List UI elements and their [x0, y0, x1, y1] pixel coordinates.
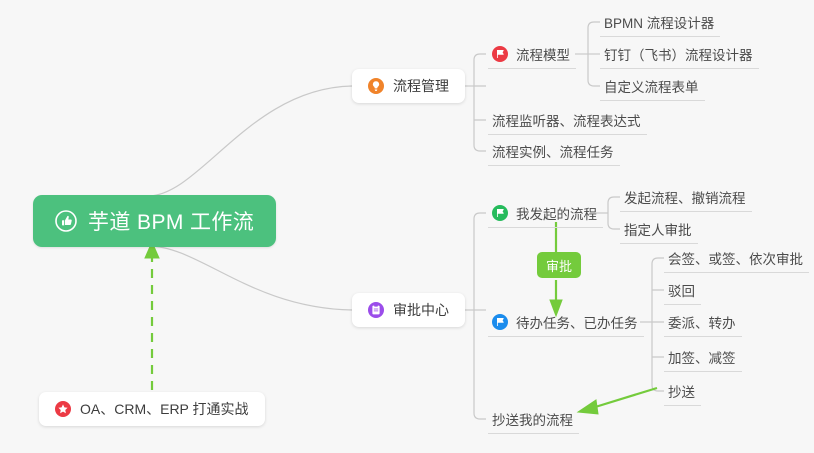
approve-tag-label: 审批	[546, 256, 572, 275]
leaf-reject-label: 驳回	[668, 280, 695, 300]
branch-approval-center[interactable]: 审批中心	[352, 293, 465, 327]
thumbs-up-icon	[55, 210, 77, 232]
connector-todo-mid	[652, 290, 664, 357]
branch-approval-center-label: 审批中心	[393, 300, 449, 320]
connector-initiated-spine	[608, 197, 620, 229]
clipboard-icon	[368, 302, 384, 318]
integration-dashed-arrow	[145, 242, 159, 390]
leaf-cc-label: 抄送	[668, 381, 695, 401]
connector-model-spine	[588, 22, 600, 86]
lightbulb-icon	[368, 78, 384, 94]
connector-todo-spine	[652, 258, 664, 391]
node-process-listener-label: 流程监听器、流程表达式	[492, 110, 641, 130]
leaf-custom-form[interactable]: 自定义流程表单	[600, 71, 705, 101]
node-my-initiated-label: 我发起的流程	[516, 203, 597, 223]
leaf-countersign[interactable]: 会签、或签、依次审批	[664, 243, 809, 273]
node-process-instance[interactable]: 流程实例、流程任务	[488, 136, 620, 166]
mindmap-canvas: 芋道 BPM 工作流 流程管理 流程模型 BPMN 流程设计器 钉钉（飞书）流程…	[0, 0, 814, 453]
flag-icon	[492, 314, 508, 330]
approve-tag: 审批	[537, 252, 581, 278]
node-cc-to-me-label: 抄送我的流程	[492, 409, 573, 429]
connector-process-mid	[474, 86, 486, 120]
root-label: 芋道 BPM 工作流	[88, 206, 254, 236]
footer-node-integration-label: OA、CRM、ERP 打通实战	[80, 399, 249, 419]
leaf-start-cancel-process-label: 发起流程、撤销流程	[624, 187, 746, 207]
node-process-instance-label: 流程实例、流程任务	[492, 141, 614, 161]
leaf-start-cancel-process[interactable]: 发起流程、撤销流程	[620, 182, 752, 212]
flag-icon	[492, 205, 508, 221]
branch-process-management[interactable]: 流程管理	[352, 69, 465, 103]
leaf-assignee-approval[interactable]: 指定人审批	[620, 214, 698, 244]
node-todo-done-tasks-label: 待办任务、已办任务	[516, 312, 638, 332]
leaf-bpmn-designer[interactable]: BPMN 流程设计器	[600, 7, 720, 37]
leaf-countersign-label: 会签、或签、依次审批	[668, 248, 803, 268]
root-node[interactable]: 芋道 BPM 工作流	[33, 195, 276, 247]
node-process-listener[interactable]: 流程监听器、流程表达式	[488, 105, 647, 135]
flag-icon	[492, 46, 508, 62]
connector-root-to-process	[148, 86, 352, 196]
leaf-delegate-transfer-label: 委派、转办	[668, 312, 736, 332]
leaf-reject[interactable]: 驳回	[664, 275, 701, 305]
star-icon	[55, 401, 71, 417]
node-todo-done-tasks[interactable]: 待办任务、已办任务	[488, 307, 644, 337]
node-process-model[interactable]: 流程模型	[488, 39, 576, 69]
node-cc-to-me[interactable]: 抄送我的流程	[488, 404, 579, 434]
connector-process-spine	[474, 54, 486, 151]
cc-flow-arrow	[578, 388, 657, 414]
leaf-add-remove-sign-label: 加签、减签	[668, 347, 736, 367]
connector-approval-spine	[474, 213, 486, 419]
leaf-assignee-approval-label: 指定人审批	[624, 219, 692, 239]
leaf-bpmn-designer-label: BPMN 流程设计器	[604, 12, 714, 32]
leaf-dingtalk-designer[interactable]: 钉钉（飞书）流程设计器	[600, 39, 759, 69]
footer-node-integration[interactable]: OA、CRM、ERP 打通实战	[39, 392, 265, 426]
leaf-custom-form-label: 自定义流程表单	[604, 76, 699, 96]
connector-root-to-approval	[148, 246, 352, 310]
node-my-initiated[interactable]: 我发起的流程	[488, 198, 603, 228]
leaf-dingtalk-designer-label: 钉钉（飞书）流程设计器	[604, 44, 753, 64]
leaf-delegate-transfer[interactable]: 委派、转办	[664, 307, 742, 337]
node-process-model-label: 流程模型	[516, 44, 570, 64]
leaf-cc[interactable]: 抄送	[664, 376, 701, 406]
leaf-add-remove-sign[interactable]: 加签、减签	[664, 342, 742, 372]
branch-process-management-label: 流程管理	[393, 76, 449, 96]
